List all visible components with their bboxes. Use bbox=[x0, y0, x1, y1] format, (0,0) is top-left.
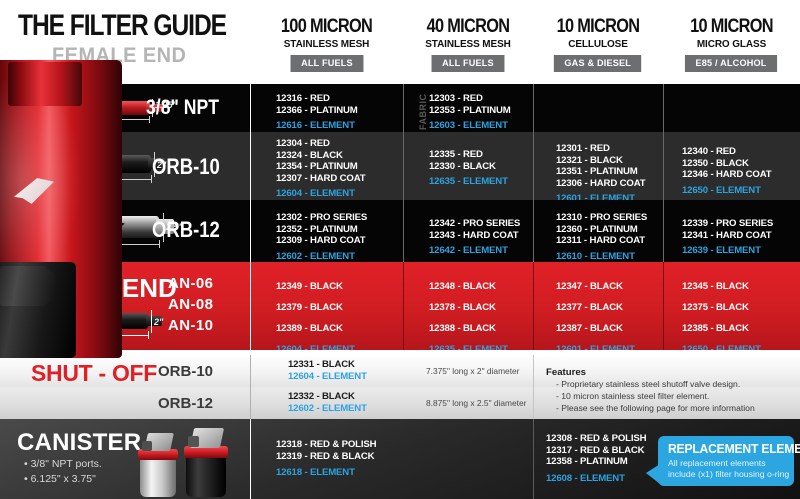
male-size-an10: AN-10 bbox=[168, 317, 213, 334]
cell-shutoff-orb12-parts: 12332 - BLACK 12602 - ELEMENT bbox=[288, 391, 367, 414]
shutoff-orb12-spec: 8.875" long x 2.5" diameter bbox=[426, 398, 526, 408]
dimension-diameter: 2" bbox=[154, 317, 163, 327]
cell-orb12-40micron: 12342 - PRO SERIES 12343 - HARD COAT 126… bbox=[429, 218, 520, 257]
cell-male-microglass: 12345 - BLACK 12375 - BLACK 12385 - BLAC… bbox=[682, 276, 761, 350]
column-divider-4 bbox=[663, 84, 664, 262]
cell-orb10-microglass: 12340 - RED 12350 - BLACK 12346 - HARD C… bbox=[682, 146, 772, 196]
column-header-10-micron-glass: 10 MICRON MICRO GLASS E85 / ALCOHOL bbox=[663, 16, 800, 72]
column-header-10-micron-cellulose: 10 MICRON CELLULOSE GAS & DIESEL bbox=[533, 16, 663, 72]
row-label-orb12: ORB-12 bbox=[152, 217, 220, 243]
cell-orb10-40micron: 12335 - RED 12330 - BLACK 12635 - ELEMEN… bbox=[429, 149, 508, 188]
shutoff-size-orb12: ORB-12 bbox=[158, 395, 213, 412]
column-fuel-badge: GAS & DIESEL bbox=[554, 55, 642, 72]
dimension-length: 5.5" bbox=[78, 335, 95, 345]
shutoff-title: SHUT - OFF bbox=[31, 360, 157, 387]
column-divider-3-male bbox=[533, 262, 534, 350]
shutoff-orb10-spec: 7.375" long x 2" diameter bbox=[426, 366, 519, 376]
fabric-vertical-label: FABRIC bbox=[418, 94, 428, 131]
canister-bullet-2: • 6.125" x 3.75" bbox=[24, 473, 96, 485]
canister-image-black bbox=[172, 423, 238, 497]
cell-orb12-microglass: 12339 - PRO SERIES 12341 - HARD COAT 126… bbox=[682, 218, 773, 257]
column-divider-1 bbox=[250, 84, 251, 262]
cell-orb12-100micron: 12302 - PRO SERIES 12352 - PLATINUM 1230… bbox=[276, 212, 367, 262]
row-label-orb10: ORB-10 bbox=[152, 154, 220, 180]
page-title: THE FILTER GUIDE bbox=[18, 9, 226, 43]
replacement-callout-body: All replacement elements include (x1) fi… bbox=[668, 458, 785, 479]
feature-item-2: - 10 micron stainless steel filter eleme… bbox=[556, 391, 709, 401]
table-section-male-end: MALE END 5.5" 2" AN-06 AN-08 AN-10 12349… bbox=[0, 262, 800, 350]
cell-orb12-cellulose: 12310 - PRO SERIES 12360 - PLATINUM 1231… bbox=[556, 212, 647, 262]
male-size-an08: AN-08 bbox=[168, 296, 213, 313]
column-divider-2-male bbox=[403, 262, 404, 350]
column-micron-label: 10 MICRON bbox=[673, 16, 791, 37]
dimension-length: 5.5" bbox=[77, 180, 94, 190]
canister-title: CANISTER bbox=[17, 429, 141, 457]
table-row-orb10-female: 5.5" 2" ORB-10 12304 - RED 12324 - BLACK… bbox=[0, 132, 800, 200]
replacement-callout-title: REPLACEMENT ELEMENTS bbox=[668, 442, 781, 456]
column-micron-label: 40 MICRON bbox=[412, 16, 524, 37]
column-micron-label: 100 MICRON bbox=[261, 16, 393, 37]
table-row-orb12-female: 7" 2.5" ORB-12 12302 - PRO SERIES 12352 … bbox=[0, 200, 800, 262]
cell-orb10-100micron: 12304 - RED 12324 - BLACK 12354 - PLATIN… bbox=[276, 138, 387, 200]
column-material-label: CELLULOSE bbox=[536, 38, 660, 51]
cell-canister-left-parts: 12318 - RED & POLISH 12319 - RED & BLACK… bbox=[276, 439, 376, 479]
column-divider-2 bbox=[403, 84, 404, 262]
replacement-callout-line1: All replacement elements bbox=[668, 458, 785, 469]
column-header-40-micron: 40 MICRON STAINLESS MESH ALL FUELS bbox=[403, 16, 533, 72]
table-row-npt: 3.5" 1.25" 3/8" NPT 12316 - RED 12366 - … bbox=[0, 84, 800, 132]
column-divider-features bbox=[533, 355, 534, 419]
feature-item-1: - Proprietary stainless steel shutoff va… bbox=[556, 379, 740, 389]
cell-canister-right-parts: 12308 - RED & POLISH 12317 - RED & BLACK… bbox=[546, 433, 646, 484]
dimension-length: 7" bbox=[83, 245, 92, 255]
cell-male-cellulose: 12347 - BLACK 12377 - BLACK 12387 - BLAC… bbox=[556, 276, 635, 350]
column-divider-1-male bbox=[250, 262, 251, 350]
cell-orb10-cellulose: 12301 - RED 12321 - BLACK 12351 - PLATIN… bbox=[556, 143, 646, 200]
dimension-length: 3.5" bbox=[76, 120, 93, 130]
column-fuel-badge: ALL FUELS bbox=[432, 55, 505, 72]
column-material-label: STAINLESS MESH bbox=[406, 38, 530, 51]
column-material-label: STAINLESS MESH bbox=[254, 38, 399, 51]
column-micron-label: 10 MICRON bbox=[542, 16, 654, 37]
filter-image-male-end: 5.5" 2" bbox=[58, 306, 178, 342]
features-title: Features bbox=[546, 367, 586, 378]
cell-shutoff-orb10-parts: 12331 - BLACK 12604 - ELEMENT bbox=[288, 359, 367, 382]
replacement-callout-line2: include (x1) filter housing o-ring bbox=[668, 469, 785, 480]
column-divider-3 bbox=[533, 84, 534, 262]
red-bottle-cap bbox=[8, 62, 82, 106]
column-header-100-micron: 100 MICRON STAINLESS MESH ALL FUELS bbox=[250, 16, 403, 72]
filter-guide-page: THE FILTER GUIDE FEMALE END 100 MICRON S… bbox=[0, 0, 800, 499]
canister-bullet-1: • 3/8" NPT ports. bbox=[24, 458, 102, 470]
cell-male-40micron: 12348 - BLACK 12378 - BLACK 12388 - BLAC… bbox=[429, 276, 508, 350]
cell-npt-100micron: 12316 - RED 12366 - PLATINUM 12616 - ELE… bbox=[276, 93, 358, 132]
row-label-npt: 3/8" NPT bbox=[146, 96, 219, 120]
replacement-elements-callout: REPLACEMENT ELEMENTS All replacement ele… bbox=[658, 436, 794, 486]
male-size-an06: AN-06 bbox=[168, 275, 213, 292]
column-material-label: MICRO GLASS bbox=[666, 38, 796, 51]
black-an-fitting-hex bbox=[0, 266, 56, 306]
cell-male-100micron: 12349 - BLACK 12379 - BLACK 12389 - BLAC… bbox=[276, 276, 355, 350]
column-divider-1-shutoff bbox=[250, 355, 251, 419]
column-fuel-badge: ALL FUELS bbox=[290, 55, 363, 72]
column-fuel-badge: E85 / ALCOHOL bbox=[685, 55, 777, 72]
feature-item-3: - Please see the following page for more… bbox=[556, 403, 755, 413]
column-divider-1-canister bbox=[250, 419, 251, 499]
column-divider-2-canister bbox=[533, 419, 534, 499]
cell-npt-40micron: 12303 - RED 12353 - PLATINUM 12603 - ELE… bbox=[429, 93, 511, 132]
column-divider-4-male bbox=[663, 262, 664, 350]
table-row-canister: CANISTER • 3/8" NPT ports. • 6.125" x 3.… bbox=[0, 419, 800, 499]
page-header: THE FILTER GUIDE FEMALE END 100 MICRON S… bbox=[0, 0, 800, 84]
shutoff-size-orb10: ORB-10 bbox=[158, 363, 213, 380]
